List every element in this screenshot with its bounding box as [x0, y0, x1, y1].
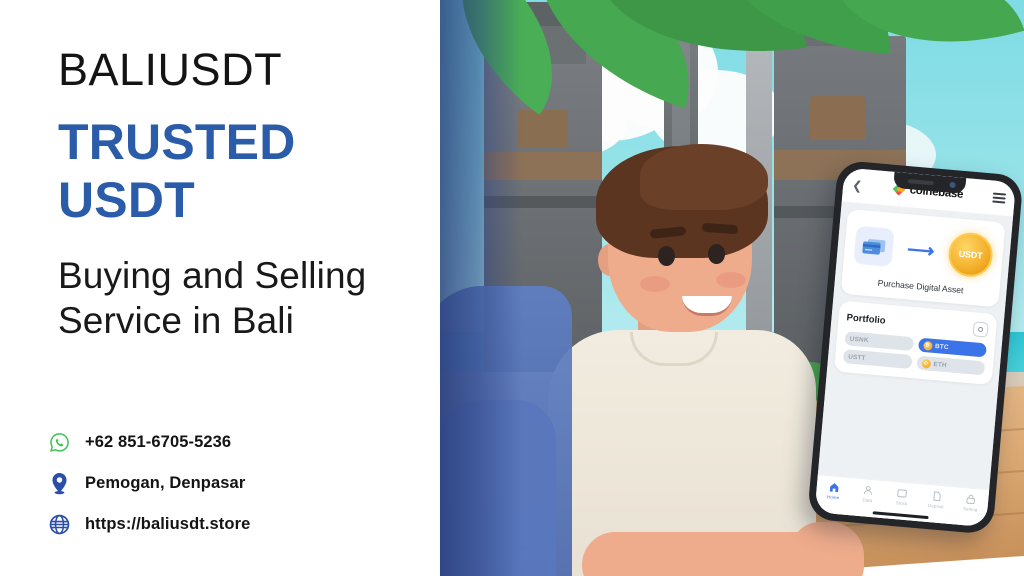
asset-label: BTC — [935, 343, 949, 351]
hamburger-menu-icon[interactable] — [992, 190, 1006, 206]
speaker-grille — [908, 179, 934, 185]
tab-label: Stock — [896, 500, 908, 506]
subheadline-line-1: Buying and Selling — [58, 253, 470, 298]
contact-item-website[interactable]: https://baliusdt.store — [44, 506, 250, 542]
phone-screen[interactable]: ❮ coinebase — [815, 167, 1017, 527]
portfolio-asset-ustt[interactable]: USTT — [843, 349, 912, 369]
scan-icon[interactable] — [972, 321, 988, 337]
tab-setting[interactable]: Setting — [953, 492, 989, 513]
poster-canvas: BALIUSDT TRUSTED USDT Buying and Selling… — [0, 0, 1024, 576]
portfolio-asset-usnk[interactable]: USNK — [844, 331, 913, 351]
lock-icon — [965, 493, 977, 505]
character-hair-highlight — [640, 144, 768, 210]
contact-item-address[interactable]: Pemogan, Denpasar — [44, 465, 250, 501]
subheadline-line-2: Service in Bali — [58, 298, 470, 343]
btc-coin-icon: ₿ — [923, 340, 933, 350]
character-eye — [658, 246, 675, 266]
asset-label: USTT — [848, 353, 866, 361]
tab-label: Setting — [963, 506, 978, 512]
subheadline: Buying and Selling Service in Bali — [58, 253, 470, 343]
asset-label: USNK — [850, 335, 869, 344]
tab-label: Data — [862, 497, 872, 503]
portfolio-title: Portfolio — [846, 312, 886, 326]
contact-list: +62 851-6705-5236 Pemogan, Denpasar — [44, 424, 250, 547]
tab-data[interactable]: Data — [850, 483, 886, 504]
tab-stock[interactable]: Stock — [884, 486, 920, 507]
tab-label: Deposit — [928, 503, 944, 509]
usdt-coin-label: USDT — [958, 249, 982, 261]
headline-line-1: TRUSTED — [58, 113, 470, 171]
phone-mockup: ❮ coinebase — [807, 160, 1024, 535]
purchase-card[interactable]: ⟶ USDT Purchase Digital Asset — [841, 209, 1006, 307]
portfolio-asset-btc[interactable]: ₿ BTC — [917, 338, 986, 358]
character-fist — [790, 522, 864, 576]
home-icon — [828, 481, 840, 493]
user-icon — [862, 484, 874, 496]
portfolio-asset-grid: USNK ₿ BTC USTT ◇ ETH — [843, 331, 987, 375]
contact-phone-label: +62 851-6705-5236 — [85, 433, 231, 452]
purchase-flow-row: ⟶ USDT — [851, 219, 997, 281]
contact-address-label: Pemogan, Denpasar — [85, 474, 245, 493]
character-eye — [708, 244, 725, 264]
character-cheek — [716, 272, 746, 288]
portfolio-asset-eth[interactable]: ◇ ETH — [916, 356, 985, 376]
location-pin-icon — [44, 472, 74, 495]
brand-name: BALIUSDT — [58, 46, 470, 93]
credit-card-icon — [853, 226, 894, 267]
chevron-left-icon[interactable]: ❮ — [852, 179, 863, 192]
tab-deposit[interactable]: Deposit — [919, 489, 955, 510]
asset-label: ETH — [933, 360, 947, 368]
usdt-coin-icon: USDT — [947, 231, 995, 279]
headline: TRUSTED USDT — [58, 113, 470, 229]
wallet-icon — [897, 487, 909, 499]
tab-label: Home — [827, 494, 840, 500]
eth-coin-icon: ◇ — [921, 358, 931, 368]
phone-body: ❮ coinebase — [807, 160, 1024, 535]
tab-home[interactable]: Home — [816, 480, 852, 501]
file-icon — [931, 490, 943, 502]
arrow-right-icon: ⟶ — [906, 240, 935, 261]
globe-icon — [44, 514, 74, 535]
whatsapp-icon — [44, 432, 74, 453]
contact-website-label: https://baliusdt.store — [85, 515, 250, 534]
contact-item-whatsapp[interactable]: +62 851-6705-5236 — [44, 424, 250, 460]
portfolio-card[interactable]: Portfolio USNK ₿ BTC — [834, 301, 998, 386]
headline-line-2: USDT — [58, 171, 470, 229]
character-cheek — [640, 276, 670, 292]
front-camera-icon — [949, 182, 956, 189]
